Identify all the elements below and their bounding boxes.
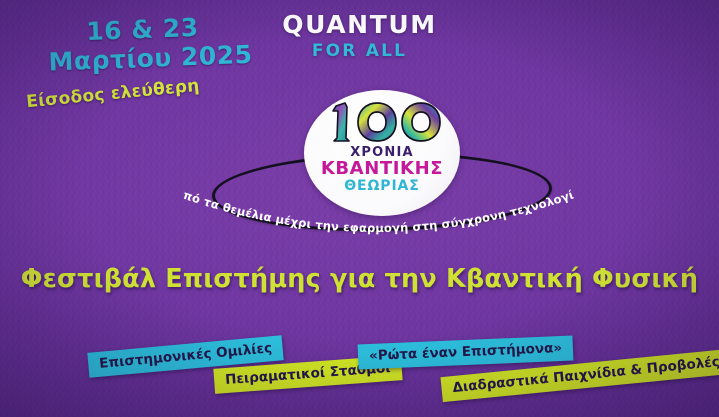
event-date-line-2: Μαρτίου 2025 — [48, 41, 239, 77]
logo-100-number — [320, 98, 444, 144]
free-entry-note: Είσοδος ελεύθερη — [25, 76, 200, 113]
event-date-block: 16 & 23 Μαρτίου 2025 — [47, 12, 239, 77]
curved-tagline: Από τα θεμέλια μέχρι την εφαρμογή στη σύ… — [178, 192, 578, 252]
logo-line-kvantikis: ΚΒΑΝΤΙΚΗΣ — [321, 160, 443, 179]
page-title: Φεστιβάλ Επιστήμης για την Κβαντική Φυσι… — [0, 264, 719, 294]
event-poster: 16 & 23 Μαρτίου 2025 Είσοδος ελεύθερη QU… — [0, 0, 719, 417]
tag-ask-a-scientist: «Ρώτα έναν Επιστήμονα» — [358, 336, 574, 370]
